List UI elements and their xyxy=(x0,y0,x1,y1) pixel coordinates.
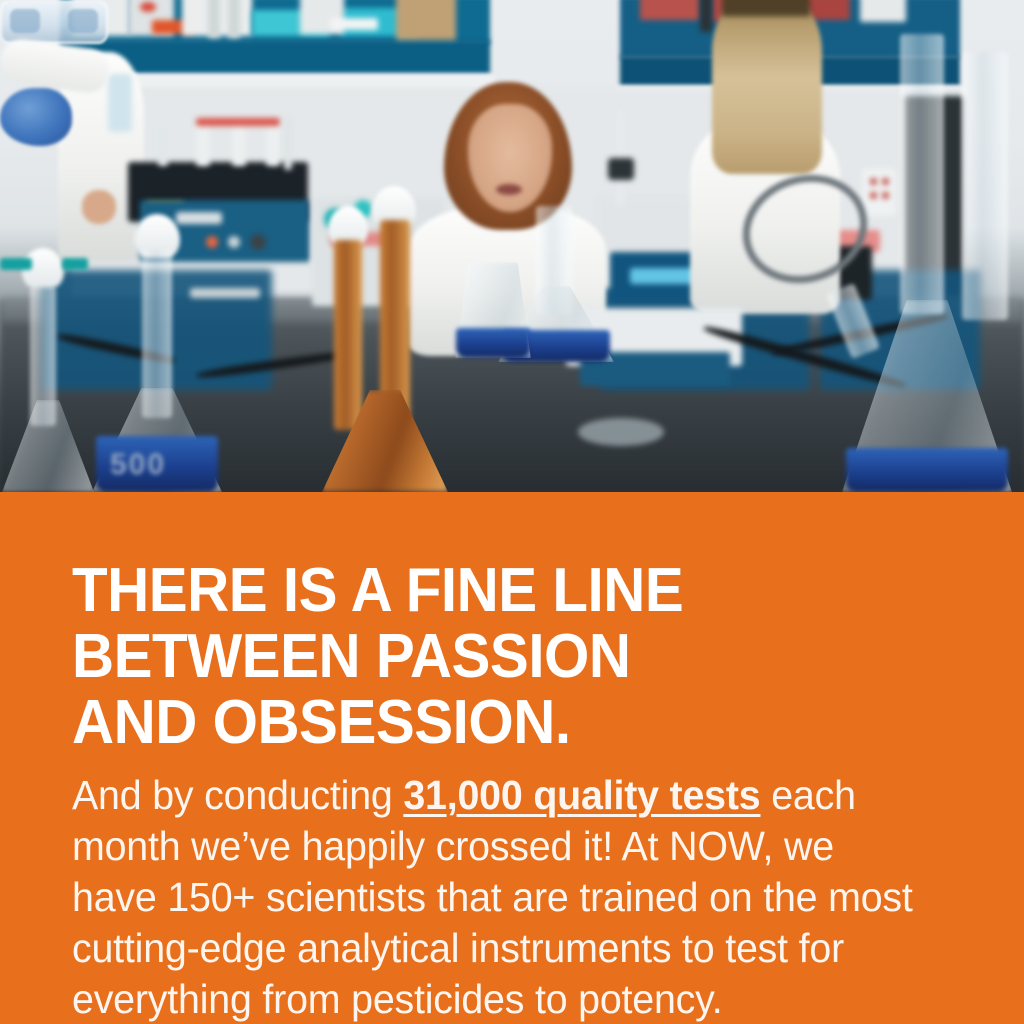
flask-neck-right-a xyxy=(900,34,944,314)
highlighted-stat: 31,000 quality tests xyxy=(403,772,760,818)
wall-socket-dot-c xyxy=(870,192,877,199)
bench-dish xyxy=(578,418,664,446)
wall-socket-plate xyxy=(862,168,896,216)
instrument-tube-2 xyxy=(196,120,210,166)
shelf-red-rack-1 xyxy=(640,0,700,20)
teal-tape-left-a xyxy=(0,258,32,270)
instrument-knob-b xyxy=(228,236,240,248)
instrument-knob-a xyxy=(206,236,218,248)
bench-drawer-handle-1 xyxy=(190,288,260,298)
wall-socket-dot-b xyxy=(882,178,889,185)
social-graphic-canvas: 500 THERE IS A FINE LINE BETWEEN PASSION… xyxy=(0,0,1024,1024)
instrument-right-clamp xyxy=(608,158,634,180)
flask-liquid-right xyxy=(846,448,1008,492)
orange-text-panel: THERE IS A FINE LINE BETWEEN PASSION AND… xyxy=(0,492,1024,1024)
flask-volume-label: 500 xyxy=(110,448,166,482)
blue-glove xyxy=(0,88,72,146)
shelf-bottle-1 xyxy=(208,0,220,38)
wall-socket-dot-a xyxy=(870,178,877,185)
scientist-left-teal-item xyxy=(108,74,132,132)
goggle-lens-left xyxy=(10,9,40,33)
shelf-white-panel-right xyxy=(860,0,906,22)
body-part-1: And by conducting xyxy=(72,772,403,818)
wall-socket-dot-d xyxy=(882,192,889,199)
lab-photo: 500 xyxy=(0,0,1024,492)
scientist-back-hair xyxy=(712,0,822,174)
shelf-white-tray xyxy=(330,18,378,30)
flask-neck-right-b xyxy=(962,52,1008,320)
shelf-dark-gap xyxy=(700,0,712,32)
shelf-carton-brown xyxy=(396,0,456,40)
instrument-post xyxy=(284,116,292,170)
page-title: THERE IS A FINE LINE BETWEEN PASSION AND… xyxy=(72,558,918,756)
amber-neck-1 xyxy=(334,240,362,430)
instrument-tube-3 xyxy=(232,122,246,166)
scientist-back-hair-top xyxy=(722,0,810,16)
safety-goggles-icon xyxy=(0,0,108,44)
instrument-tube-1 xyxy=(158,118,168,166)
shelf-bottle-2 xyxy=(228,0,240,38)
teal-tape-left-b xyxy=(62,258,88,270)
scientist-front-mouth xyxy=(496,184,522,195)
body-paragraph: And by conducting 31,000 quality tests e… xyxy=(72,770,917,1024)
instrument-red-caps xyxy=(196,118,280,126)
shelf-red-marker xyxy=(140,2,156,12)
instrument-screen xyxy=(176,212,222,224)
beaker-liquid-in-hand xyxy=(456,328,530,358)
goggle-lens-right xyxy=(68,9,98,33)
instrument-knob-c xyxy=(250,234,266,250)
instrument-tube-4 xyxy=(266,122,280,166)
scientist-left-hand xyxy=(82,190,116,224)
